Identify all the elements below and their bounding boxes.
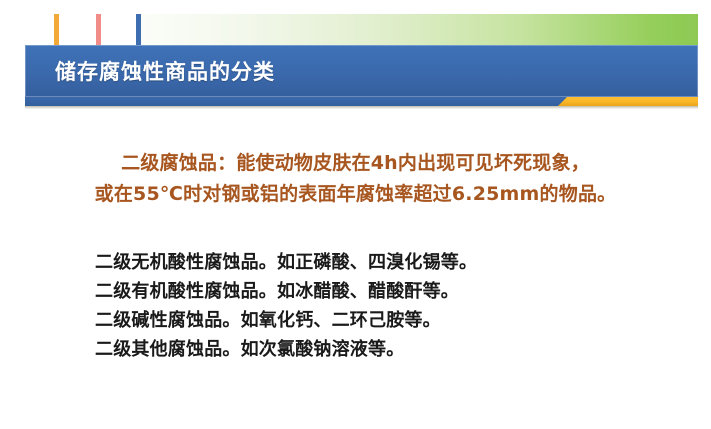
tick-mark-orange [54,14,59,46]
list-item: 二级碱性腐蚀品。如氧化钙、二环己胺等。 [95,306,655,335]
title-underline-diagonal-notch [25,97,567,106]
list-item: 二级无机酸性腐蚀品。如正磷酸、四溴化锡等。 [95,248,655,277]
slide-title-bar: 储存腐蚀性商品的分类 [25,45,698,97]
definition-paragraph: 二级腐蚀品：能使动物皮肤在4h内出现可见坏死现象， 或在55℃时对钢或铝的表面年… [0,148,711,210]
top-decorative-band [0,14,711,46]
green-gradient-band [141,14,698,46]
list-item: 二级有机酸性腐蚀品。如冰醋酸、醋酸酐等。 [95,277,655,306]
list-item: 二级其他腐蚀品。如次氯酸钠溶液等。 [95,335,655,364]
tick-mark-red [96,14,101,46]
definition-line-1: 二级腐蚀品：能使动物皮肤在4h内出现可见坏死现象， [0,148,711,179]
title-underline-strip [25,97,698,106]
title-underline-shadow [25,106,698,109]
definition-line-2: 或在55℃时对钢或铝的表面年腐蚀率超过6.25mm的物品。 [0,179,711,210]
classification-list: 二级无机酸性腐蚀品。如正磷酸、四溴化锡等。 二级有机酸性腐蚀品。如冰醋酸、醋酸酐… [95,248,655,364]
page-title: 储存腐蚀性商品的分类 [55,56,275,86]
slide-canvas: 储存腐蚀性商品的分类 二级腐蚀品：能使动物皮肤在4h内出现可见坏死现象， 或在5… [0,0,711,429]
